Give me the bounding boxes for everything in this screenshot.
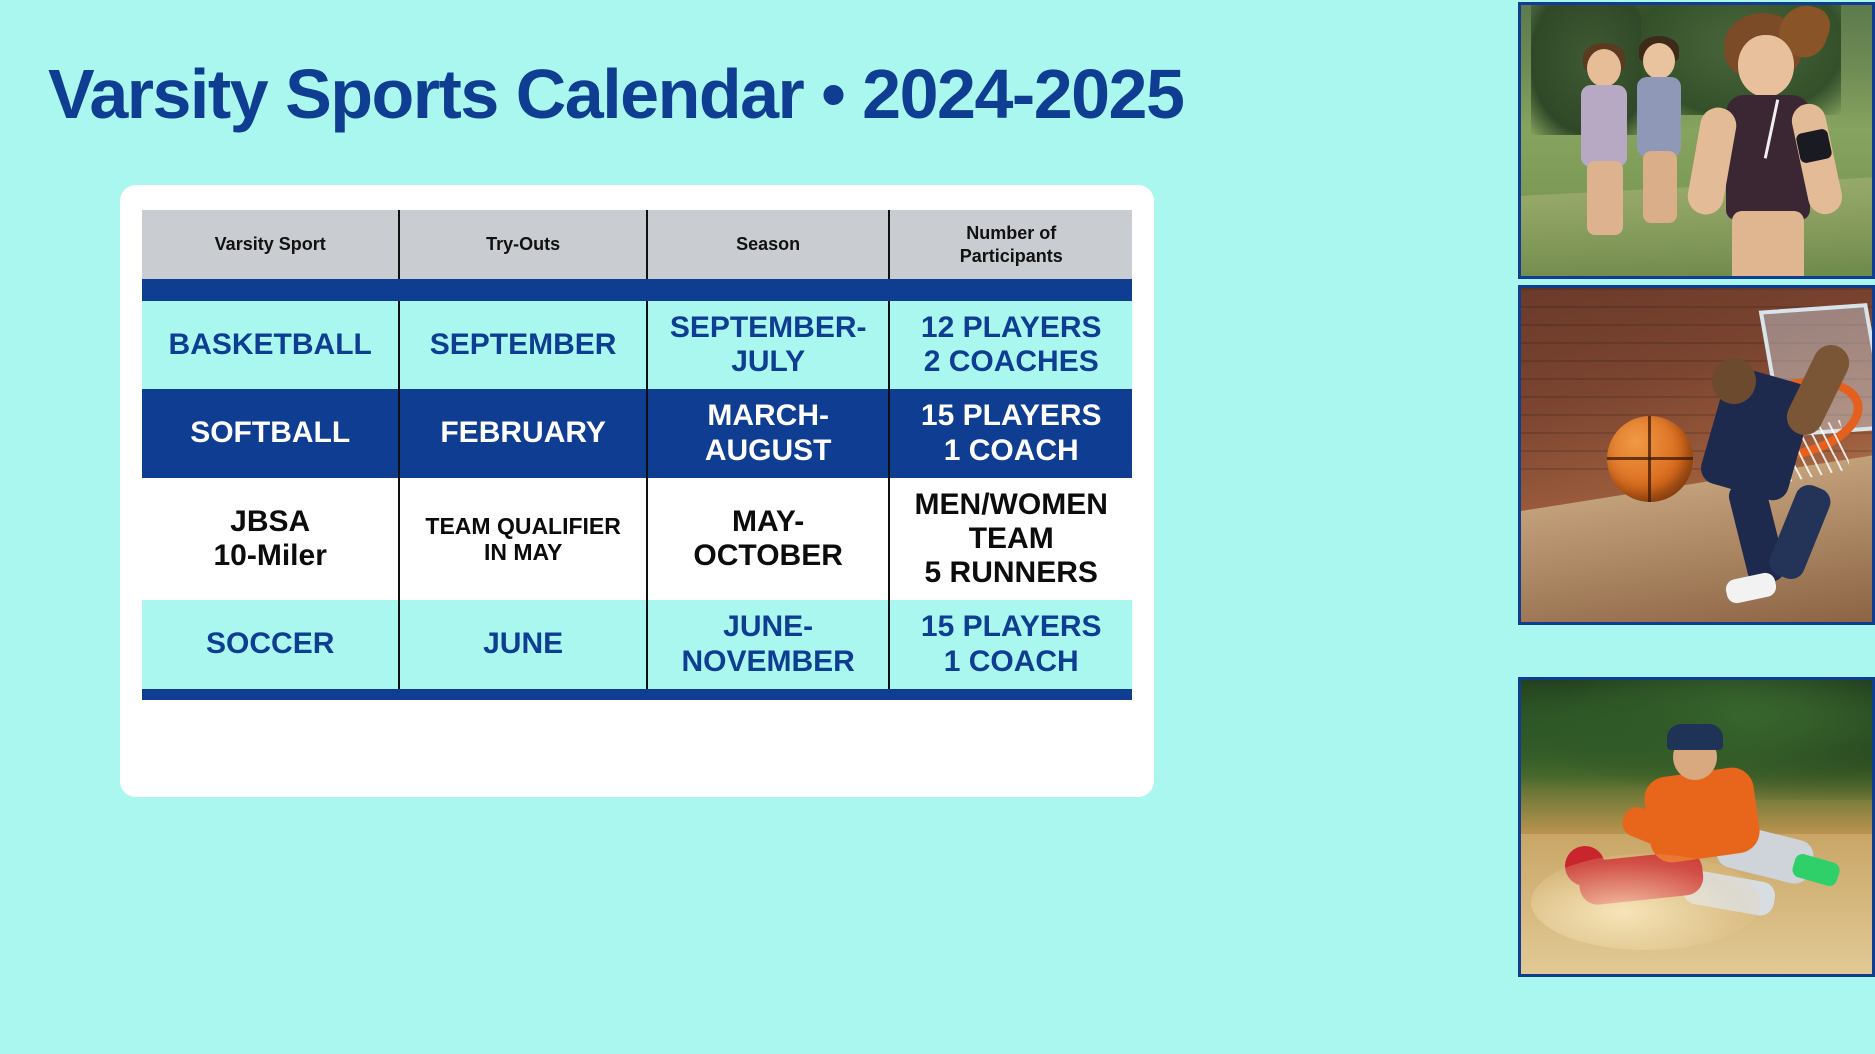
cell-season: SEPTEMBER- JULY <box>647 301 890 389</box>
main-content-panel: Varsity Sports Calendar • 2024-2025 Vars… <box>0 0 1518 1054</box>
cell-tryouts: TEAM QUALIFIER IN MAY <box>399 478 647 601</box>
calendar-table-card: Varsity Sport Try-Outs Season Number of … <box>120 185 1154 797</box>
cell-season: MAY- OCTOBER <box>647 478 890 601</box>
cell-tryouts: JUNE <box>399 600 647 688</box>
table-row: JBSA 10-Miler TEAM QUALIFIER IN MAY MAY-… <box>142 478 1132 601</box>
table-row: SOFTBALL FEBRUARY MARCH- AUGUST 15 PLAYE… <box>142 389 1132 477</box>
cell-participants-line1: 12 PLAYERS <box>898 311 1124 345</box>
photo-strip <box>1518 0 1875 1054</box>
table-row: SOCCER JUNE JUNE- NOVEMBER 15 PLAYERS 1 … <box>142 600 1132 688</box>
table-top-bar <box>142 279 1132 290</box>
softball-photo <box>1518 677 1875 977</box>
column-header-season: Season <box>647 210 890 279</box>
bottom-bar-cell <box>142 689 1132 700</box>
cell-tryouts-line2: IN MAY <box>408 539 638 565</box>
column-header-tryouts: Try-Outs <box>399 210 647 279</box>
slide-canvas: Varsity Sports Calendar • 2024-2025 Vars… <box>0 0 1875 1054</box>
cell-season-line1: MAY- <box>656 505 881 539</box>
header-underline-bar <box>142 290 1132 301</box>
dust-cloud <box>1531 854 1761 950</box>
column-header-participants: Number of Participants <box>889 210 1132 279</box>
cell-season-line1: MARCH- <box>656 399 881 433</box>
table-bottom-bar <box>142 689 1132 700</box>
player-head <box>1712 358 1756 404</box>
cell-sport: JBSA 10-Miler <box>142 478 399 601</box>
cell-season-line1: SEPTEMBER- <box>656 311 881 345</box>
table-row: BASKETBALL SEPTEMBER SEPTEMBER- JULY 12 … <box>142 301 1132 389</box>
foreground-runner <box>1688 11 1838 279</box>
header-underline-cell <box>142 290 1132 301</box>
runners-photo <box>1518 2 1875 279</box>
cell-tryouts: FEBRUARY <box>399 389 647 477</box>
cell-tryouts-line1: TEAM QUALIFIER <box>408 513 638 539</box>
cell-participants-line1: 15 PLAYERS <box>898 399 1124 433</box>
background-runner <box>1625 43 1691 229</box>
cell-participants-line2: 1 COACH <box>898 434 1124 468</box>
basketball-icon <box>1607 416 1693 502</box>
table-header-row: Varsity Sport Try-Outs Season Number of … <box>142 210 1132 279</box>
cell-season-line2: AUGUST <box>656 434 881 468</box>
top-bar-cell <box>142 279 1132 290</box>
cell-season-line2: JULY <box>656 345 881 379</box>
cell-season-line2: OCTOBER <box>656 539 881 573</box>
cell-season: MARCH- AUGUST <box>647 389 890 477</box>
cell-sport: SOCCER <box>142 600 399 688</box>
cell-season-line1: JUNE- <box>656 610 881 644</box>
cell-season-line2: NOVEMBER <box>656 645 881 679</box>
cell-participants-line1: 15 PLAYERS <box>898 610 1124 644</box>
cell-sport: BASKETBALL <box>142 301 399 389</box>
basketball-photo <box>1518 285 1875 625</box>
cell-sport-line1: JBSA <box>150 505 390 539</box>
column-header-participants-line2: Participants <box>896 245 1126 268</box>
cell-participants: 15 PLAYERS 1 COACH <box>889 389 1132 477</box>
column-header-participants-line1: Number of <box>896 222 1126 245</box>
cell-sport: SOFTBALL <box>142 389 399 477</box>
cell-participants-line2: 1 COACH <box>898 645 1124 679</box>
cell-participants: MEN/WOMEN TEAM 5 RUNNERS <box>889 478 1132 601</box>
cell-participants: 12 PLAYERS 2 COACHES <box>889 301 1132 389</box>
cell-participants-line2: TEAM <box>898 522 1124 556</box>
cell-participants-line2: 2 COACHES <box>898 345 1124 379</box>
varsity-sports-table: Varsity Sport Try-Outs Season Number of … <box>142 210 1132 700</box>
cell-season: JUNE- NOVEMBER <box>647 600 890 688</box>
cell-participants: 15 PLAYERS 1 COACH <box>889 600 1132 688</box>
cell-participants-line3: 5 RUNNERS <box>898 556 1124 590</box>
cell-tryouts: SEPTEMBER <box>399 301 647 389</box>
column-header-sport: Varsity Sport <box>142 210 399 279</box>
cell-participants-line1: MEN/WOMEN <box>898 488 1124 522</box>
page-title: Varsity Sports Calendar • 2024-2025 <box>48 58 1183 132</box>
cell-sport-line2: 10-Miler <box>150 539 390 573</box>
fielder-cap <box>1667 724 1723 750</box>
